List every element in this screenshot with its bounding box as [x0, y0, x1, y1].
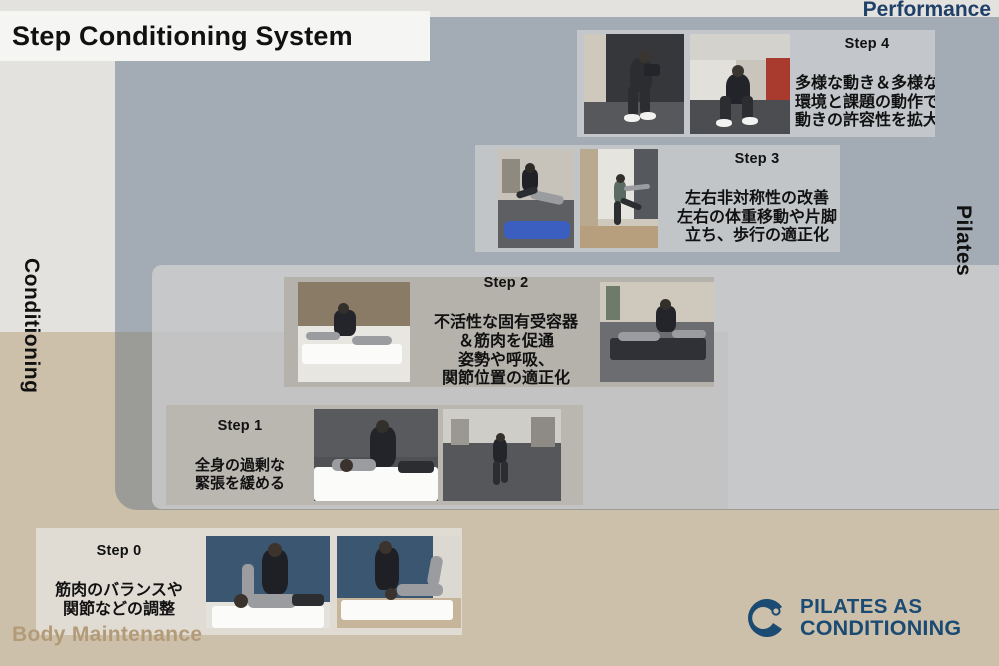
step-3-photo-1	[498, 149, 574, 248]
step-0-photo-2	[337, 536, 461, 628]
label-body-maintenance: Body Maintenance	[12, 623, 202, 647]
step-3-photos	[475, 149, 658, 248]
step-0-card[interactable]: Step 0 筋肉のバランスや 関節などの調整	[36, 528, 462, 635]
slide-title-plate: Step Conditioning System	[0, 11, 430, 61]
step-0-photos	[206, 536, 461, 628]
step-4-card[interactable]: Step 4 多様な動き＆多様な 環境と課題の動作で 動きの許容性を拡大	[577, 30, 935, 137]
step-1-text: Step 1 全身の過剰な 緊張を緩める	[170, 405, 310, 505]
step-2-photo-2	[600, 282, 714, 382]
step-4-label: Step 4	[792, 36, 935, 53]
step-3-photo-2	[580, 149, 658, 248]
step-3-label: Step 3	[672, 151, 840, 168]
step-1-photo-1	[314, 409, 438, 501]
step-0-text: Step 0 筋肉のバランスや 関節などの調整	[40, 528, 198, 635]
label-conditioning: Conditioning	[19, 258, 43, 393]
step-2-photo-1	[298, 282, 410, 382]
step-4-photos	[577, 34, 790, 134]
step-1-description: 全身の過剰な 緊張を緩める	[170, 457, 310, 492]
step-1-photos	[314, 409, 561, 501]
label-performance: Performance	[863, 0, 991, 22]
step-1-photo-2	[443, 409, 561, 501]
step-2-text: Step 2 不活性な固有受容器 ＆筋肉を促通 姿勢や呼吸、 関節位置の適正化	[422, 277, 590, 387]
label-pilates: Pilates	[951, 205, 975, 276]
step-4-description: 多様な動き＆多様な 環境と課題の動作で 動きの許容性を拡大	[792, 75, 935, 132]
step-4-photo-2	[690, 34, 790, 134]
step-2-card[interactable]: Step 2 不活性な固有受容器 ＆筋肉を促通 姿勢や呼吸、 関節位置の適正化	[284, 277, 714, 387]
step-2-description: 不活性な固有受容器 ＆筋肉を促通 姿勢や呼吸、 関節位置の適正化	[422, 314, 590, 387]
step-1-card[interactable]: Step 1 全身の過剰な 緊張を緩める	[166, 405, 583, 505]
step-3-text: Step 3 左右非対称性の改善 左右の体重移動や片脚 立ち、歩行の適正化	[672, 145, 840, 252]
brand-logo: PILATES AS CONDITIONING	[745, 596, 961, 640]
step-1-label: Step 1	[170, 418, 310, 435]
step-0-description: 筋肉のバランスや 関節などの調整	[40, 582, 198, 620]
step-3-card[interactable]: Step 3 左右非対称性の改善 左右の体重移動や片脚 立ち、歩行の適正化	[475, 145, 840, 252]
step-0-label: Step 0	[40, 543, 198, 560]
logo-wordmark: PILATES AS CONDITIONING	[800, 597, 961, 639]
step-3-description: 左右非対称性の改善 左右の体重移動や片脚 立ち、歩行の適正化	[672, 190, 840, 247]
logo-line-1: PILATES AS	[800, 597, 961, 618]
step-4-photo-1	[584, 34, 684, 134]
page-title: Step Conditioning System	[0, 21, 353, 52]
step-2-label: Step 2	[422, 277, 590, 292]
slide-canvas: Step 4 多様な動き＆多様な 環境と課題の動作で 動きの許容性を拡大	[0, 0, 999, 666]
logo-line-2: CONDITIONING	[800, 618, 961, 640]
circle-c-mark-icon	[745, 596, 789, 640]
step-4-text: Step 4 多様な動き＆多様な 環境と課題の動作で 動きの許容性を拡大	[792, 30, 935, 137]
step-0-photo-1	[206, 536, 330, 628]
